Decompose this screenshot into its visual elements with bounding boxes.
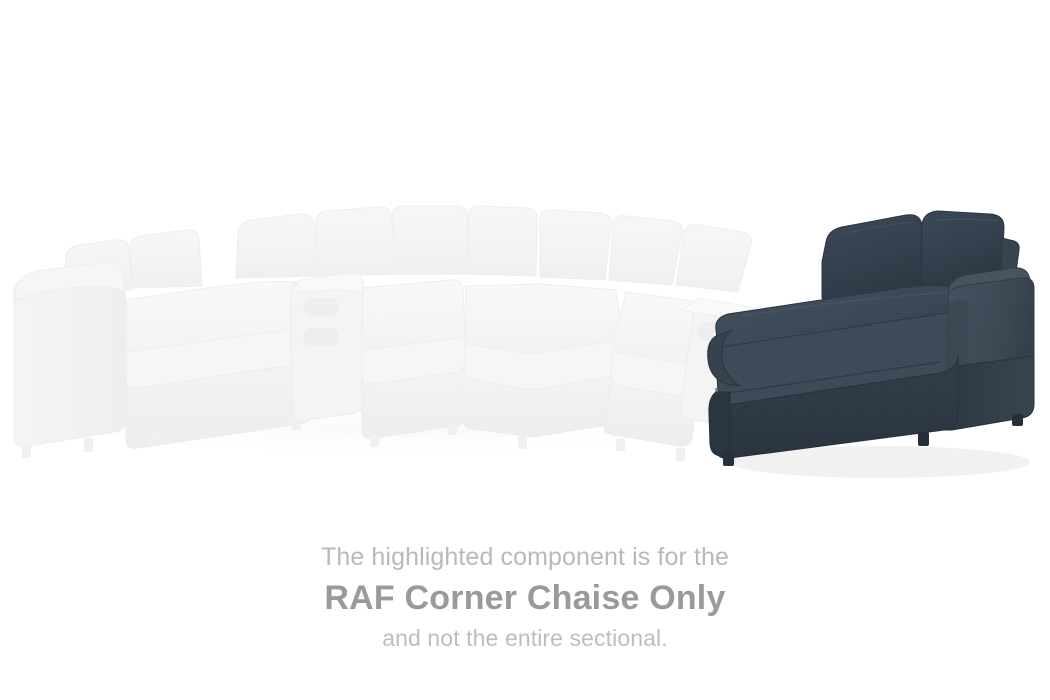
ghost-sectional-group: [0, 190, 790, 470]
callout-caption: The highlighted component is for the RAF…: [0, 540, 1050, 654]
caption-line-2-component-name: RAF Corner Chaise Only: [0, 574, 1050, 622]
chaise-leg: [918, 432, 929, 446]
caption-line-3: and not the entire sectional.: [0, 622, 1050, 654]
product-image-canvas: The highlighted component is for the RAF…: [0, 0, 1050, 700]
chaise-leg: [1012, 414, 1023, 426]
sectional-illustration: [0, 0, 1050, 520]
chaise-leg: [723, 452, 734, 466]
sectional-vector-drawing: [0, 0, 1050, 520]
caption-line-1: The highlighted component is for the: [0, 540, 1050, 574]
ghost-fade-veil: [0, 190, 790, 470]
